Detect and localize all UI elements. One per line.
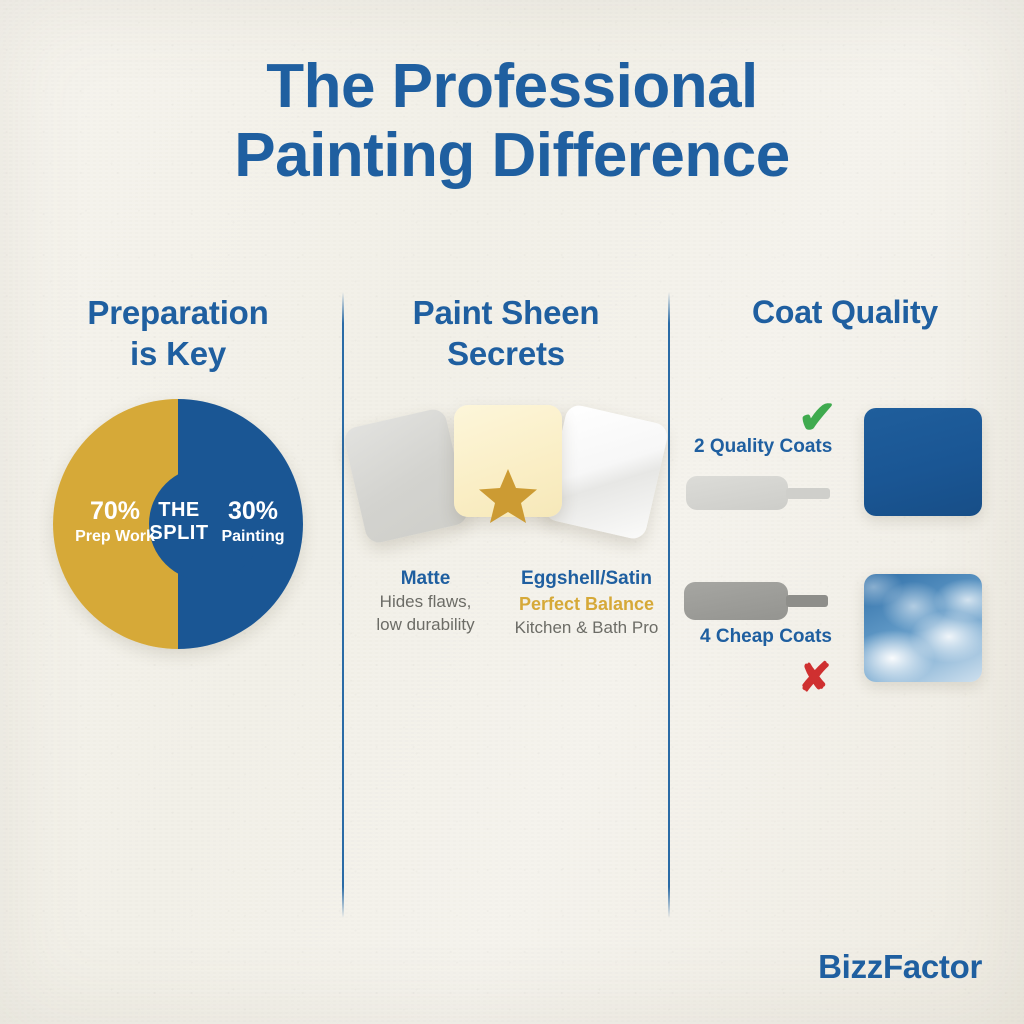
column-paint-sheen: Paint Sheen Secrets Matte Hides flaws, l…: [350, 292, 662, 640]
coat-row-cheap: 4 Cheap Coats ✘: [680, 586, 1010, 696]
column-divider-right: [668, 292, 670, 918]
column-coat-quality: Coat Quality ✔ 2 Quality Coats 4 Cheap: [680, 292, 1010, 622]
column-preparation-heading-line1: Preparation: [87, 294, 268, 331]
check-icon: ✔: [798, 394, 837, 440]
cheap-paint-roller-icon: [684, 580, 834, 624]
column-paint-sheen-heading-line1: Paint Sheen: [413, 294, 600, 331]
page-title-line1: The Professional: [266, 52, 758, 121]
column-preparation: Preparation is Key 70% Prep Work THE SPL…: [18, 292, 338, 649]
coat-quality-label: 2 Quality Coats: [694, 436, 832, 458]
eggshell-swatch: [454, 405, 562, 517]
page-title: The Professional Painting Difference: [0, 52, 1024, 191]
paint-swatch-group: [350, 393, 662, 563]
page-title-line2: Painting Difference: [0, 121, 1024, 190]
smooth-finish-swatch: [864, 408, 982, 516]
sheen-eggshell-info: Eggshell/Satin Perfect Balance Kitchen &…: [511, 567, 662, 641]
column-coat-quality-heading-line1: Coat Quality: [752, 294, 938, 330]
column-divider-left: [342, 292, 344, 918]
matte-swatch: [342, 406, 470, 544]
donut-painting-value: 30%: [197, 497, 309, 526]
column-preparation-heading: Preparation is Key: [18, 292, 338, 375]
prep-split-donut-chart: 70% Prep Work THE SPLIT 30% Painting: [53, 399, 303, 649]
quality-paint-roller-icon: [686, 474, 836, 514]
sheen-eggshell-name: Eggshell/Satin: [511, 567, 662, 592]
infographic-canvas: The Professional Painting Difference Pre…: [0, 0, 1024, 1024]
coat-comparison-group: ✔ 2 Quality Coats 4 Cheap Coats ✘: [680, 372, 1010, 622]
column-coat-quality-heading: Coat Quality: [680, 292, 1010, 332]
sheen-matte-name: Matte: [350, 567, 501, 592]
donut-painting-label: Painting: [197, 528, 309, 546]
column-paint-sheen-heading-line2: Secrets: [447, 335, 565, 372]
donut-segment-label-painting: 30% Painting: [197, 497, 309, 547]
sheen-matte-desc-line2: low durability: [350, 614, 501, 637]
sheen-label-group: Matte Hides flaws, low durability Eggshe…: [350, 567, 662, 641]
column-paint-sheen-heading: Paint Sheen Secrets: [350, 292, 662, 375]
star-icon: [478, 467, 538, 525]
column-preparation-heading-line2: is Key: [130, 335, 226, 372]
cross-icon: ✘: [798, 658, 832, 698]
patchy-finish-swatch: [864, 574, 982, 682]
sheen-matte-desc-line1: Hides flaws,: [350, 591, 501, 614]
sheen-eggshell-highlight: Perfect Balance: [511, 591, 662, 617]
sheen-eggshell-desc-line1: Kitchen & Bath Pro: [511, 617, 662, 640]
coat-row-quality: ✔ 2 Quality Coats: [680, 470, 1010, 580]
coat-cheap-label: 4 Cheap Coats: [700, 626, 832, 648]
sheen-matte-info: Matte Hides flaws, low durability: [350, 567, 501, 641]
brand-logo: BizzFactor: [818, 948, 982, 986]
